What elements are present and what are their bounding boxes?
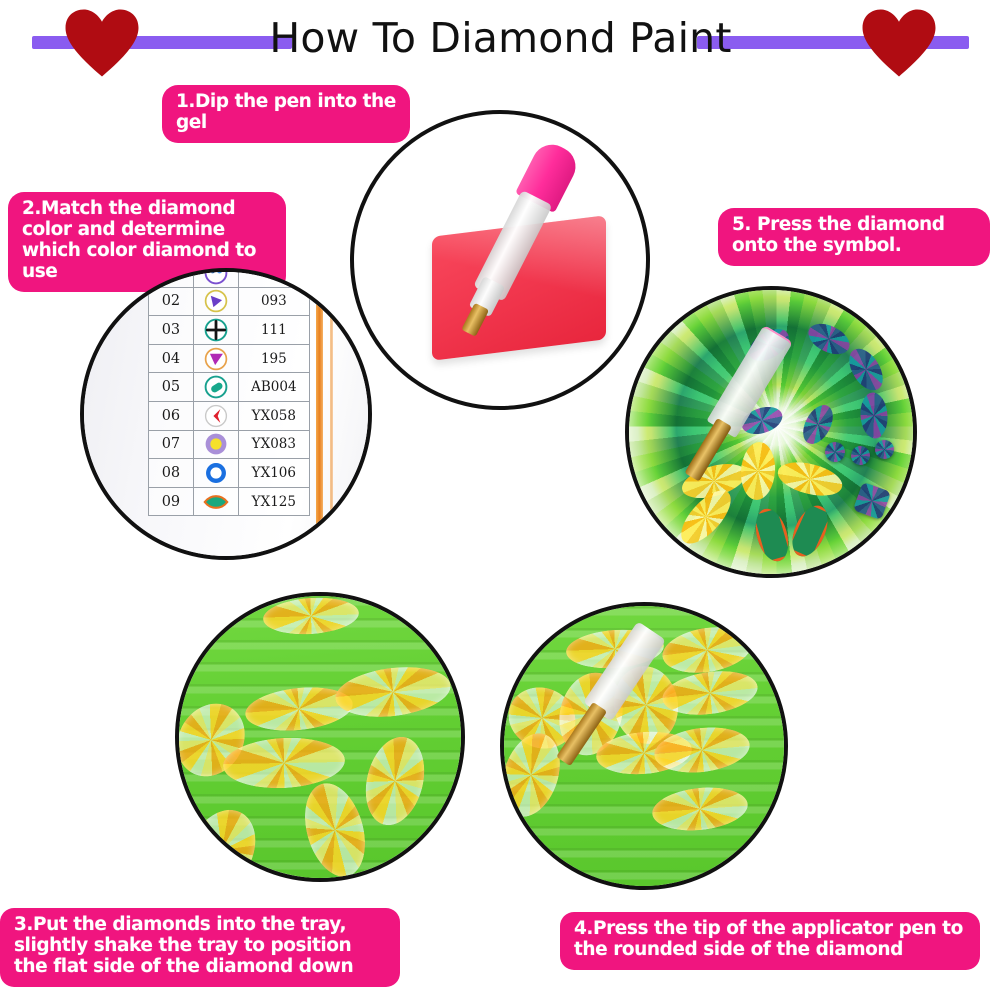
photo-pen-picking-diamond: [500, 602, 788, 890]
yellow-dot-ring-icon: [193, 430, 238, 459]
canvas-gem-round: [825, 442, 845, 462]
chart-row-number: 05: [149, 373, 194, 402]
chart-row-code: 093: [238, 287, 309, 316]
chart-row: 08YX106: [149, 459, 310, 488]
chart-row-number: 08: [149, 459, 194, 488]
chart-row: 03111: [149, 316, 310, 345]
red-chevron-icon: [193, 401, 238, 430]
chart-row-code: 111: [238, 316, 309, 345]
chart-row-code: 195: [238, 344, 309, 373]
step-4-label: 4.Press the tip of the applicator pen to…: [560, 912, 980, 970]
photo-pen-dipping-gel: [350, 110, 650, 410]
chart-row-number: 03: [149, 316, 194, 345]
chart-row: 09YX125: [149, 487, 310, 516]
blue-dots-icon: [193, 268, 238, 287]
chart-row-code: YX106: [238, 459, 309, 488]
chart-row-code: YX125: [238, 487, 309, 516]
chart-row: 05AB004: [149, 373, 310, 402]
infographic-page: How To Diamond Paint 1.Dip the pen into …: [0, 0, 1001, 1001]
magenta-triangle-icon: [193, 344, 238, 373]
pen-tip: [461, 303, 489, 337]
chart-row-code: YX083: [238, 430, 309, 459]
step-1-label: 1.Dip the pen into the gel: [162, 85, 410, 143]
photo-diamonds-in-tray: [175, 592, 465, 882]
chart-row: 07YX083: [149, 430, 310, 459]
photo-placing-diamond-on-canvas: [625, 286, 917, 578]
chart-orange-stripe-thin: [330, 272, 333, 560]
green-leaf-icon: [193, 487, 238, 516]
chart-row-code: YX058: [238, 401, 309, 430]
color-chart-table: 0102802093031110419505AB00406YX05807YX08…: [148, 268, 310, 516]
teal-plus-icon: [193, 316, 238, 345]
chart-row: 06YX058: [149, 401, 310, 430]
chart-row-number: 07: [149, 430, 194, 459]
chart-orange-stripe: [316, 272, 323, 560]
teal-pill-icon: [193, 373, 238, 402]
canvas-gem-round: [851, 446, 870, 465]
step-3-label: 3.Put the diamonds into the tray, slight…: [0, 908, 400, 987]
photo-color-chart: 0102802093031110419505AB00406YX05807YX08…: [80, 268, 372, 560]
blue-ring-icon: [193, 459, 238, 488]
chart-row: 02093: [149, 287, 310, 316]
chart-row-number: 09: [149, 487, 194, 516]
chart-row-code: AB004: [238, 373, 309, 402]
purple-triangle-icon: [193, 287, 238, 316]
canvas-gem-round: [875, 440, 894, 459]
step-5-label: 5. Press the diamond onto the symbol.: [718, 208, 990, 266]
chart-row-number: 04: [149, 344, 194, 373]
page-title: How To Diamond Paint: [0, 14, 1001, 62]
chart-row-number: 02: [149, 287, 194, 316]
chart-row: 04195: [149, 344, 310, 373]
chart-paper: 0102802093031110419505AB00406YX05807YX08…: [84, 272, 368, 556]
chart-row-number: 06: [149, 401, 194, 430]
